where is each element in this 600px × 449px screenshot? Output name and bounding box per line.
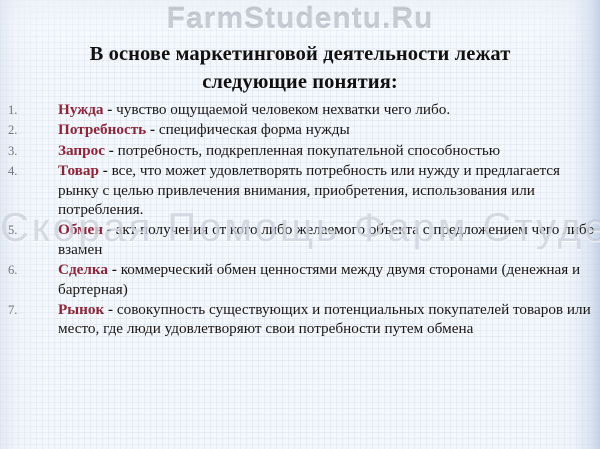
list-item: 5.Обмен - акт получения от кого либо жел… [0,220,600,259]
concept-term: Товар [58,162,99,179]
concept-definition: специфическая форма нужды [159,121,350,138]
list-item: 6.Сделка - коммерческий обмен ценностями… [0,260,600,299]
concept-term: Нужда [58,101,104,118]
concept-term: Рынок [58,301,104,318]
list-item: 3.Запрос - потребность, подкрепленная по… [0,141,600,160]
concept-definition: чувство ощущаемой человеком нехватки чег… [116,101,450,118]
concept-term: Сделка [58,261,108,278]
concept-definition: совокупность существующих и потенциальны… [58,301,591,337]
concept-term: Обмен [58,221,103,238]
page-title-line-1: В основе маркетинговой деятельности лежа… [90,43,511,65]
concept-dash: - [99,162,112,179]
concept-definition: все, что может удовлетворять потребность… [58,162,560,218]
presentation-slide: FarmStudentu.Ru В основе маркетинговой д… [0,0,600,449]
list-item: 7.Рынок - совокупность существующих и по… [0,300,600,339]
list-item: 1.Нужда - чувство ощущаемой человеком не… [0,100,600,119]
watermark-top: FarmStudentu.Ru [0,2,600,36]
concept-list: 1.Нужда - чувство ощущаемой человеком не… [0,100,600,340]
list-item-number: 1. [8,101,32,120]
list-item: 2.Потребность - специфическая форма нужд… [0,120,600,139]
concept-term: Запрос [58,142,105,159]
concept-definition: потребность, подкрепленная покупательной… [118,142,501,159]
list-item-number: 3. [8,142,32,161]
page-title-line-2: следующие понятия: [202,71,398,93]
concept-dash: - [104,301,117,318]
concept-dash: - [108,261,121,278]
concept-dash: - [105,142,118,159]
concept-dash: - [104,101,117,118]
list-item-number: 4. [8,162,32,181]
list-item-number: 7. [8,301,32,320]
list-item-number: 2. [8,121,32,140]
concept-definition: акт получения от кого либо желаемого объ… [58,221,594,257]
list-item: 4.Товар - все, что может удовлетворять п… [0,161,600,219]
list-item-number: 5. [8,221,32,240]
concept-term: Потребность [58,121,146,138]
concept-dash: - [146,121,159,138]
concept-definition: коммерческий обмен ценностями между двум… [58,261,580,297]
page-title: В основе маркетинговой деятельности лежа… [30,40,570,96]
list-item-number: 6. [8,261,32,280]
concept-dash: - [103,221,116,238]
